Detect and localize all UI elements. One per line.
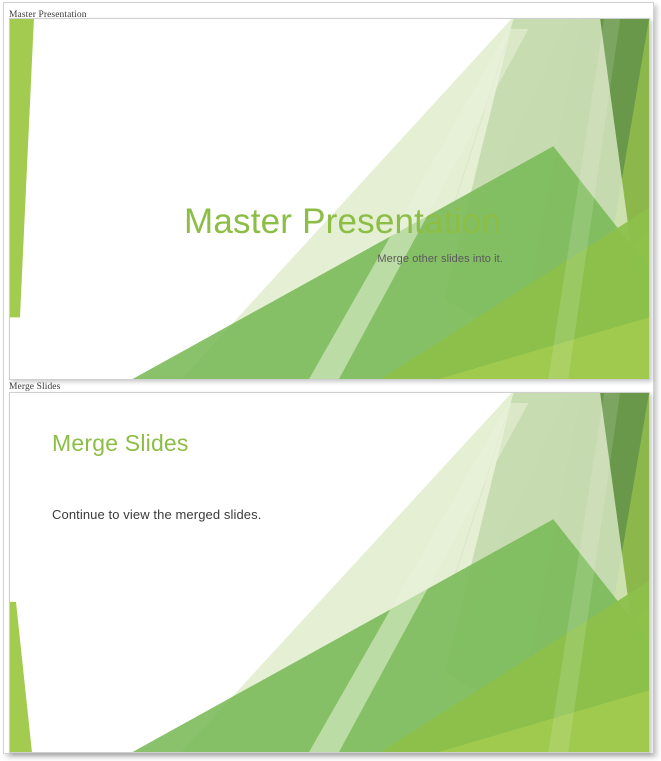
slide-2-body[interactable]: Continue to view the merged slides. (52, 506, 261, 524)
document-page: Master Presentation (3, 2, 654, 754)
facet-decoration-graphic-1 (10, 19, 649, 379)
slide-1-title[interactable]: Master Presentation (184, 202, 501, 242)
slide-1-canvas: Master Presentation Merge other slides i… (10, 19, 649, 379)
facet-polygon-group (133, 19, 649, 379)
slide-2-canvas: Merge Slides Continue to view the merged… (10, 393, 649, 752)
facet-polygon-group (133, 393, 649, 752)
left-wedge-shape (10, 602, 32, 752)
slide-2[interactable]: Merge Slides Continue to view the merged… (9, 392, 650, 753)
slide-1-subtitle[interactable]: Merge other slides into it. (377, 252, 503, 266)
left-wedge-shape (10, 19, 34, 317)
slide-label-2: Merge Slides (9, 382, 60, 392)
slide-2-title[interactable]: Merge Slides (52, 429, 189, 457)
slide-1[interactable]: Master Presentation Merge other slides i… (9, 18, 650, 380)
